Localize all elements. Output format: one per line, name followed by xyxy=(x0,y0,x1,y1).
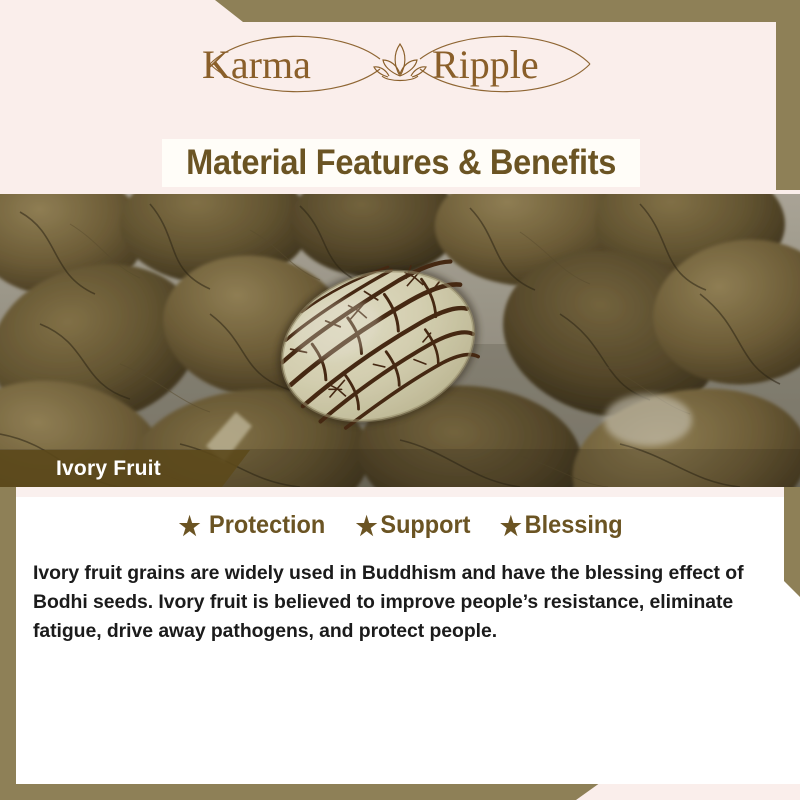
page-background-bottom xyxy=(0,784,800,800)
poster-root: Karma Ripple Material Features & Benefit… xyxy=(0,0,800,800)
photo-caption-label: Ivory Fruit xyxy=(56,457,161,481)
star-icon: ★ xyxy=(178,513,200,539)
photo-caption-ribbon: Ivory Fruit xyxy=(0,450,250,487)
title-banner: Material Features & Benefits xyxy=(162,139,640,187)
benefit-item-blessing: ★ Blessing xyxy=(500,511,623,540)
description-text: Ivory fruit grains are widely used in Bu… xyxy=(33,559,757,646)
benefit-label-blessing: Blessing xyxy=(524,511,622,540)
brand-logo: Karma Ripple xyxy=(0,26,800,102)
ivory-fruit-photo-svg xyxy=(0,194,800,487)
content-top-strip xyxy=(16,487,784,497)
content-card: ★ Protection ★ Support ★ Blessing Ivory … xyxy=(16,487,784,784)
star-icon: ★ xyxy=(355,513,377,539)
benefit-label-protection: Protection xyxy=(209,511,325,540)
benefit-label-support: Support xyxy=(380,511,470,540)
benefit-item-protection: ★ Protection xyxy=(178,511,325,540)
brand-name-right: Ripple xyxy=(432,42,539,87)
benefits-row: ★ Protection ★ Support ★ Blessing xyxy=(16,511,784,540)
star-icon: ★ xyxy=(500,513,522,539)
benefit-item-support: ★ Support xyxy=(355,511,470,540)
brand-logo-svg: Karma Ripple xyxy=(190,26,610,102)
brand-name-left: Karma xyxy=(202,42,311,87)
ivory-fruit-photo xyxy=(0,194,800,487)
page-title: Material Features & Benefits xyxy=(186,143,616,183)
